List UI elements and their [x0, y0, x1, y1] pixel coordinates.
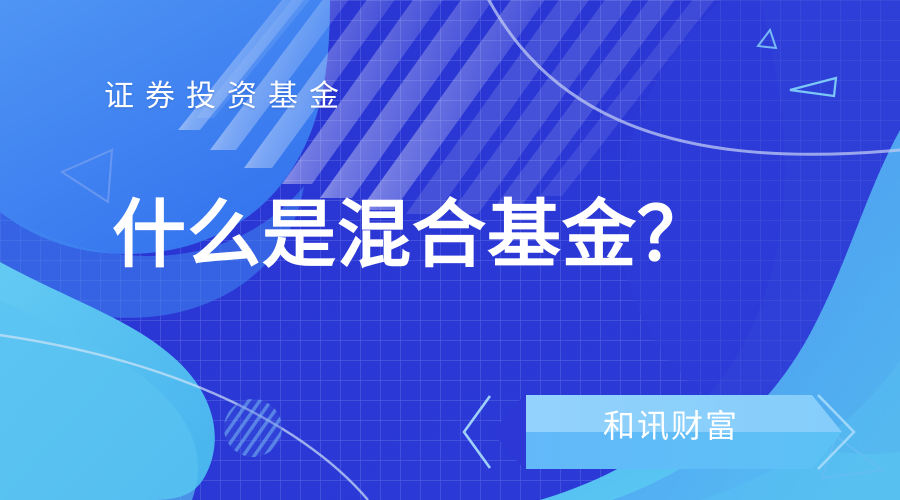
- brand-name: 和讯财富: [576, 409, 766, 444]
- ribbon-left-outline-chevron: [464, 396, 490, 468]
- eyebrow-text: 证券投资基金: [104, 80, 350, 113]
- arc-upper: [470, 0, 900, 154]
- arc-lower: [0, 330, 368, 500]
- triangle-left-outline: [62, 150, 112, 202]
- triangle-small-upper-right: [758, 30, 776, 48]
- page-title: 什么是混合基金？: [112, 196, 712, 274]
- striped-circle: [222, 397, 284, 459]
- triangle-mid-right: [790, 78, 836, 96]
- promo-poster: 证券投资基金 什么是混合基金？: [0, 0, 900, 500]
